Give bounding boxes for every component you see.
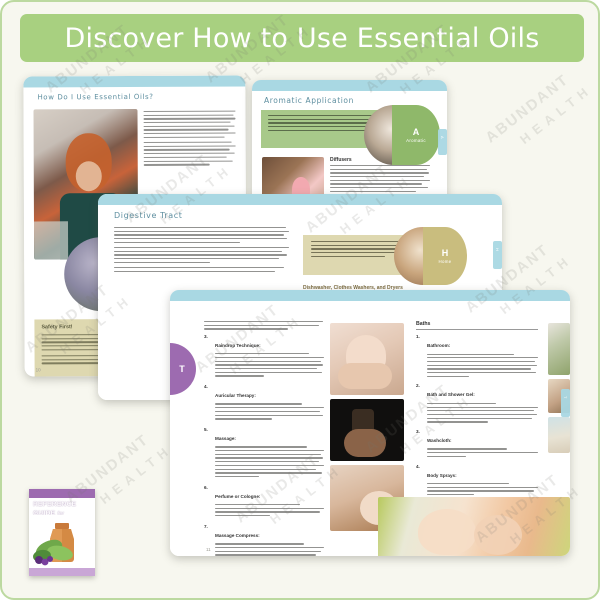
photo-baby-feet-bath xyxy=(378,497,570,556)
list-item: 2. Bath and Shower Gel: xyxy=(416,383,538,425)
photo-foot-massage xyxy=(330,323,404,395)
book-cover-bottom-band xyxy=(29,568,95,576)
list-item: 4. Body Sprays: xyxy=(416,464,538,498)
side-tab-topical[interactable]: T xyxy=(561,389,570,417)
badge-topical-letter: T xyxy=(179,365,185,374)
page-title: Discover How to Use Essential Oils xyxy=(65,23,540,54)
page3-heading: Digestive Tract xyxy=(114,211,183,220)
list-item: 4. Auricular Therapy: xyxy=(204,384,324,422)
side-tab-aromatic-p2[interactable]: A xyxy=(438,129,447,155)
badge-aromatic-p2: A Aromatic xyxy=(392,105,440,165)
page2-heading: Aromatic Application xyxy=(264,96,354,105)
title-banner: Discover How to Use Essential Oils xyxy=(20,14,584,62)
photo-bath-salts-beach xyxy=(548,417,570,453)
book-page-baths-topical[interactable]: T 3. Raindrop Technique: xyxy=(170,290,570,556)
list-item: 5. Massage: xyxy=(204,427,324,480)
list-item: 7. Massage Compress: xyxy=(204,524,324,556)
page4-sheet: T 3. Raindrop Technique: xyxy=(170,301,570,556)
page1-page-number: 10 xyxy=(36,367,41,372)
list-item: 3. Washcloth: xyxy=(416,429,538,460)
side-tab-home[interactable]: H xyxy=(493,241,502,269)
badge-aromatic-p2-label: Aromatic xyxy=(406,138,426,143)
page2-subheading: Diffusers xyxy=(330,157,430,163)
page4-heading: Baths xyxy=(416,321,538,330)
page2-diffusers-text: Diffusers xyxy=(330,157,430,195)
book-cover-reference-guide[interactable]: REFERENCE GUIDE for ESSENTIAL OILS xyxy=(29,489,95,576)
photo-chopping-vegetables xyxy=(548,323,570,375)
book-cover-top-band xyxy=(29,489,95,498)
list-item: 1. Bathroom: xyxy=(416,334,538,379)
badge-home-label: Home xyxy=(439,259,452,264)
page1-heading: How Do I Use Essential Oils? xyxy=(37,93,153,102)
badge-aromatic-p2-letter: A xyxy=(413,128,420,137)
badge-home-letter: H xyxy=(442,249,449,258)
page1-text-column xyxy=(143,111,235,170)
page3-left-text xyxy=(114,227,289,276)
page4-left-list: 3. Raindrop Technique: 4. xyxy=(204,321,324,556)
book-title-line1: REFERENCE xyxy=(33,501,76,508)
badge-home: H Home xyxy=(423,227,467,285)
photo-oil-bottle-dark xyxy=(330,399,404,461)
poster-canvas: Discover How to Use Essential Oils How D… xyxy=(0,0,600,600)
list-item: 3. Raindrop Technique: xyxy=(204,334,324,379)
book-cover-art xyxy=(29,515,95,568)
badge-topical: T xyxy=(170,343,196,395)
page4-page-number: 11 xyxy=(206,547,211,552)
oil-bottle-leaves-icon xyxy=(29,515,95,568)
list-item: 6. Perfume or Cologne: xyxy=(204,485,324,519)
